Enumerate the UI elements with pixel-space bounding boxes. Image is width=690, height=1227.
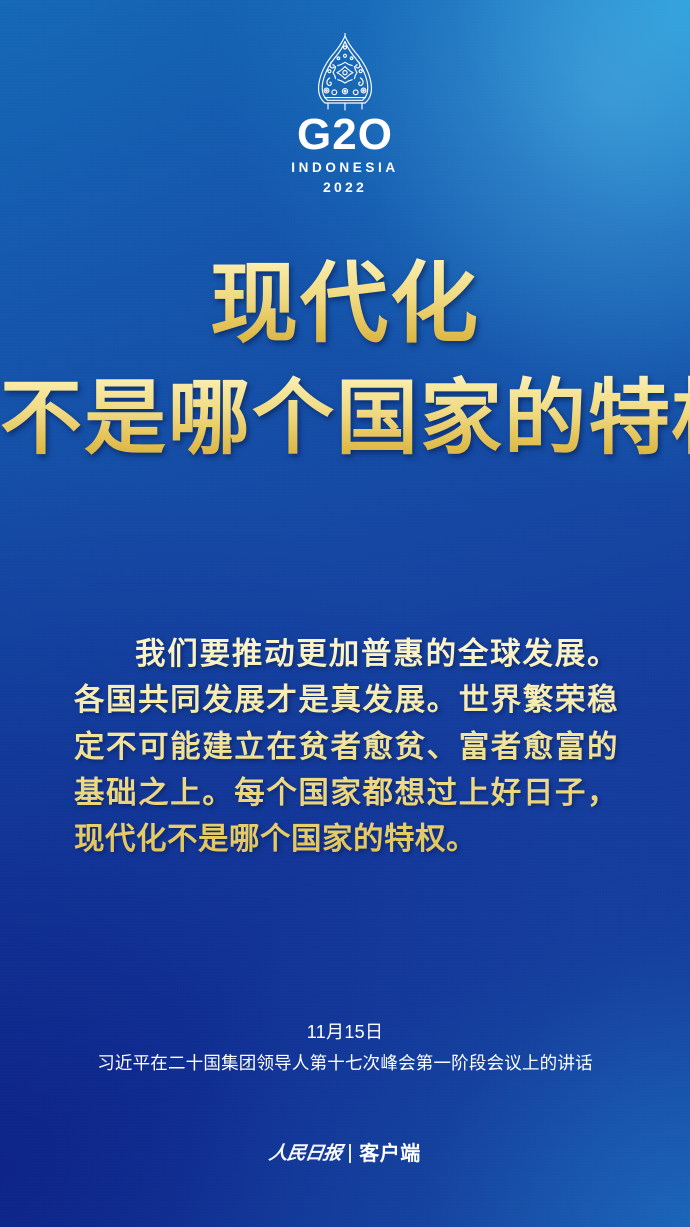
g20-wordmark: G2O (297, 113, 393, 157)
headline-line-1: 现代化 (0, 252, 690, 356)
headline-line-2: 不是哪个国家的特权 (0, 370, 690, 467)
publisher-logo: 人民日报 (268, 1144, 343, 1162)
poster-canvas: G2O INDONESIA 2022 现代化 不是哪个国家的特权 我们要推动更加… (0, 0, 690, 1227)
g20-country-label: INDONESIA (291, 161, 398, 175)
brand-lockup: 人民日报 客户端 (0, 1143, 690, 1163)
headline: 现代化 不是哪个国家的特权 (0, 252, 690, 467)
quote-text: 我们要推动更加普惠的全球发展。各国共同发展才是真发展。世界繁荣稳定不可能建立在贫… (74, 632, 618, 864)
footer-date: 11月15日 (0, 1019, 690, 1046)
brand-separator (349, 1144, 351, 1163)
footer: 11月15日 习近平在二十国集团领导人第十七次峰会第一阶段会议上的讲话 (0, 1019, 690, 1077)
batik-ornament-icon (299, 33, 391, 111)
g20-logo: G2O INDONESIA 2022 (0, 33, 690, 194)
footer-caption: 习近平在二十国集团领导人第十七次峰会第一阶段会议上的讲话 (0, 1051, 690, 1077)
brand-app-label: 客户端 (359, 1143, 421, 1163)
g20-year-label: 2022 (323, 180, 367, 194)
